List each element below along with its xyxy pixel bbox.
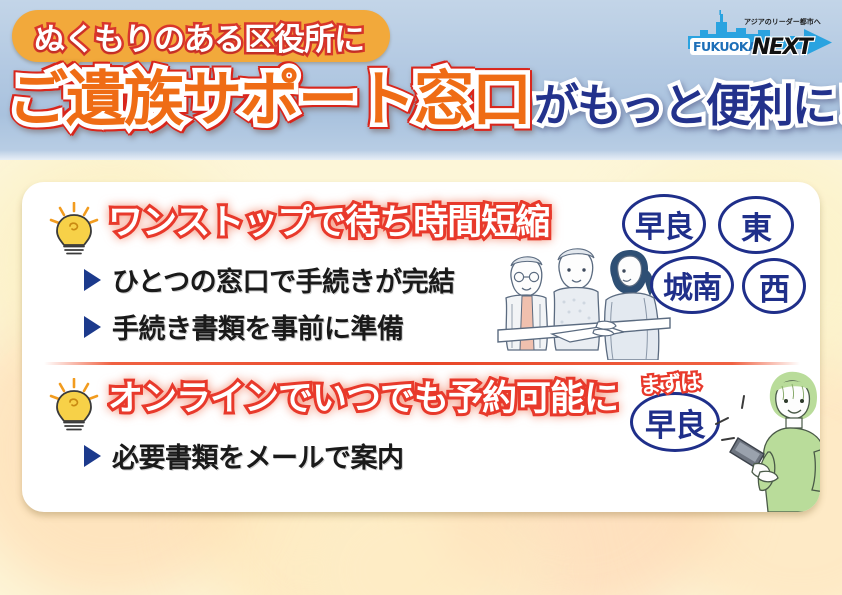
- poster-canvas: ぬくもりのある区役所に ご遺族サポート窓口 がもっと便利に！ アジアのリーダー都…: [0, 0, 842, 595]
- section-heading-one-stop: ワンストップで待ち時間短縮: [108, 206, 549, 241]
- bullet-list-one-stop: ひとつの窓口で手続きが完結 手続き書類を事前に準備: [84, 260, 455, 354]
- poster-header: ぬくもりのある区役所に ご遺族サポート窓口 がもっと便利に！ アジアのリーダー都…: [0, 0, 842, 160]
- bullet-list-online: 必要書類をメールで案内: [84, 436, 404, 483]
- ward-stamp: 早良: [622, 194, 706, 254]
- lightbulb-icon: [48, 378, 100, 434]
- triangle-bullet-icon: [84, 316, 101, 338]
- triangle-bullet-icon: [84, 445, 101, 467]
- triangle-bullet-icon: [84, 269, 101, 291]
- list-item: 手続き書類を事前に準備: [84, 307, 455, 346]
- first-at-label: まずは: [639, 366, 701, 400]
- list-item-label: ひとつの窓口で手続きが完結: [112, 260, 455, 299]
- ward-stamp: 東: [718, 196, 794, 254]
- list-item-label: 手続き書類を事前に準備: [112, 307, 404, 346]
- logo-word-right: NEXT: [752, 35, 815, 60]
- list-item: 必要書類をメールで案内: [84, 436, 404, 475]
- person-with-smartphone-illustration: [712, 366, 820, 512]
- logo-tagline: アジアのリーダー都市へ: [744, 17, 821, 26]
- ward-stamp: 城南: [650, 256, 734, 314]
- section-one-stop: ワンストップで待ち時間短縮 ひとつの窓口で手続きが完結 手続き書類を事前に準備: [22, 182, 820, 364]
- page-title-main: ご遺族サポート窓口: [8, 70, 530, 130]
- ward-stamp-group: 早良 東 城南 西: [620, 194, 806, 316]
- page-title-tail: がもっと便利に！: [534, 83, 842, 128]
- fukuoka-next-logo: アジアのリーダー都市へ FUKUOKA NEXT: [686, 8, 834, 64]
- tagline-text: ぬくもりのある区役所に: [34, 14, 364, 59]
- tagline-speech-bubble: ぬくもりのある区役所に: [12, 10, 390, 62]
- list-item: ひとつの窓口で手続きが完結: [84, 260, 455, 299]
- ward-stamp: 西: [742, 258, 806, 314]
- section-heading-online: オンラインでいつでも予約可能に: [108, 382, 618, 417]
- content-card: ワンストップで待ち時間短縮 ひとつの窓口で手続きが完結 手続き書類を事前に準備: [22, 182, 820, 512]
- ward-stamp-sawara: 早良: [630, 392, 720, 452]
- list-item-label: 必要書類をメールで案内: [112, 436, 404, 475]
- section-online-reservation: オンラインでいつでも予約可能に 必要書類をメールで案内 まずは 早良: [22, 364, 820, 512]
- poster-title: ご遺族サポート窓口 がもっと便利に！: [8, 70, 842, 130]
- lightbulb-icon: [48, 202, 100, 258]
- logo-word-left: FUKUOKA: [693, 39, 758, 54]
